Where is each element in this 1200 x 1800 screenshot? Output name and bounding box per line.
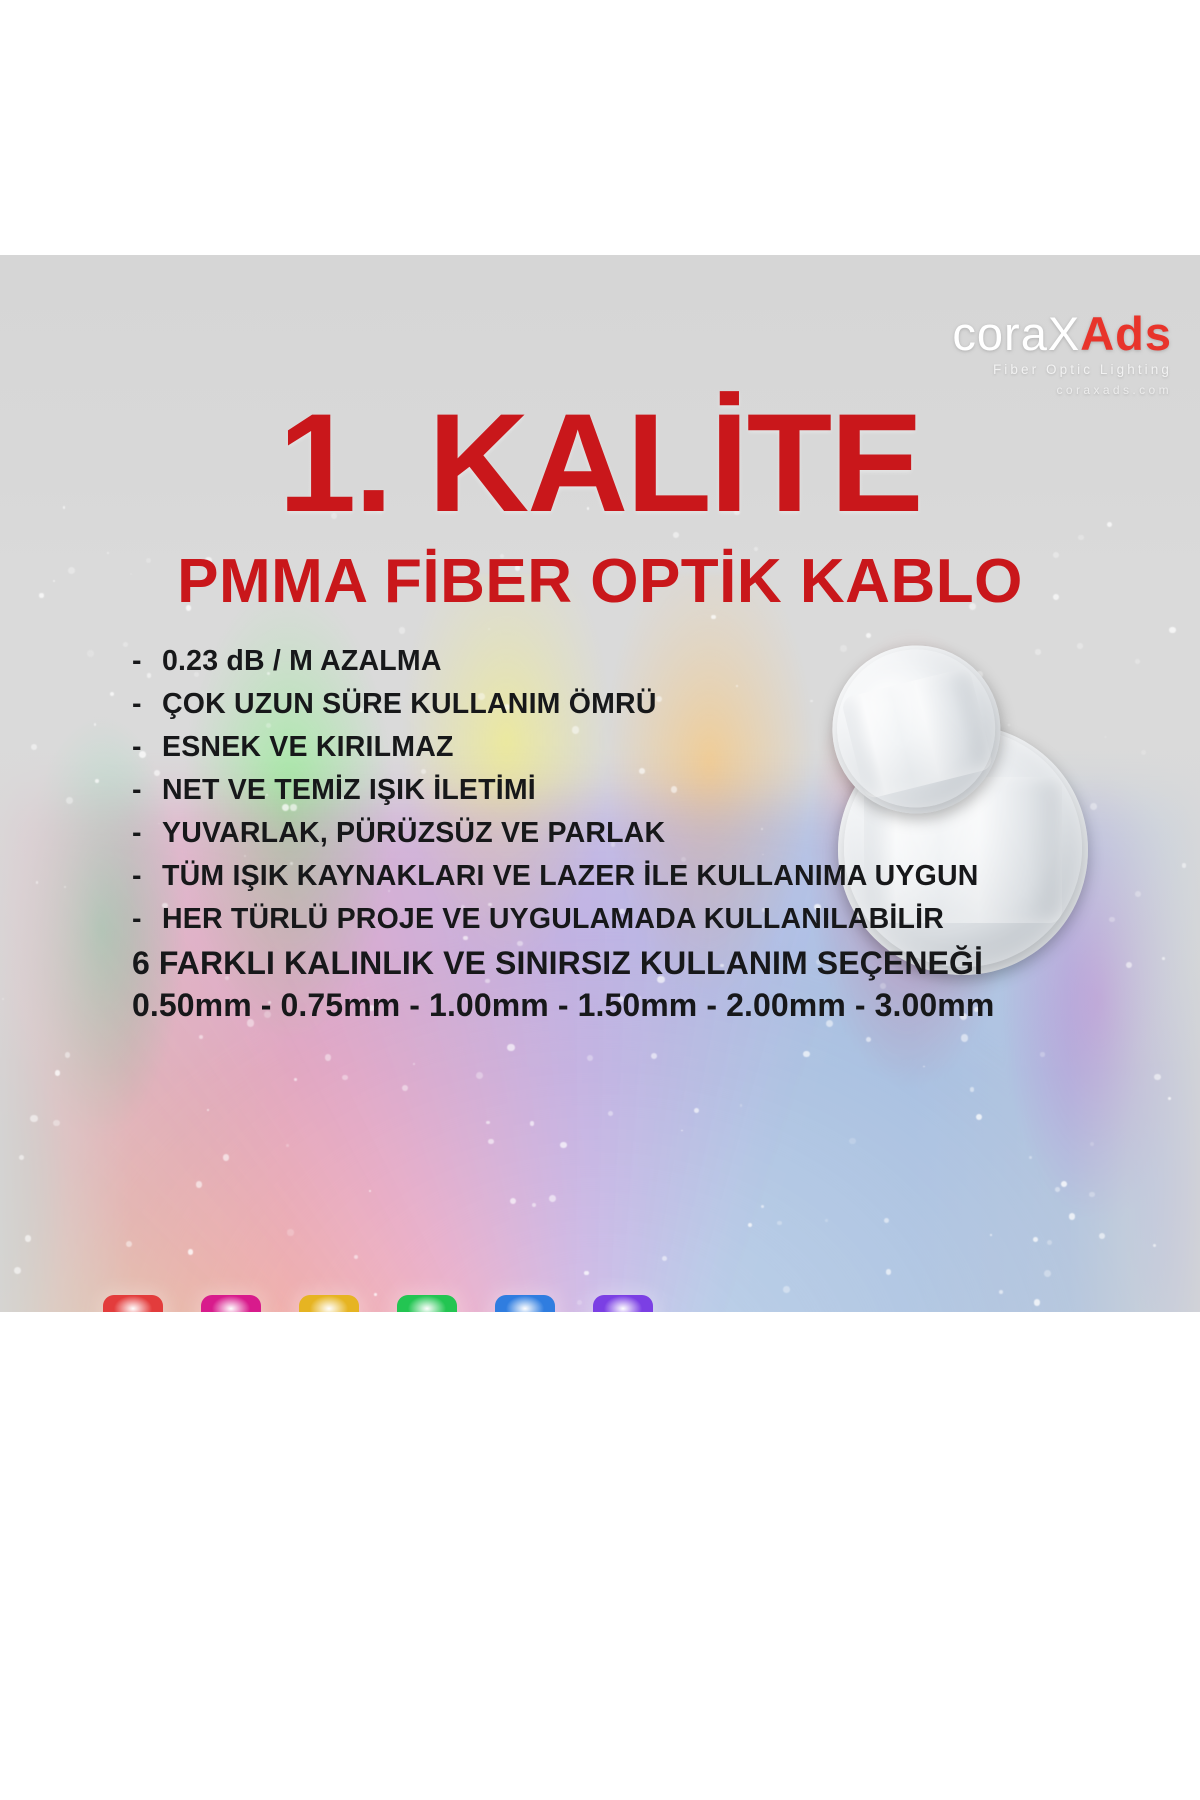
feature-item: -0.23 dB / M AZALMA	[132, 647, 979, 677]
feature-item: -YUVARLAK, PÜRÜZSÜZ VE PARLAK	[132, 819, 979, 849]
logo-ads-text: Ads	[1080, 307, 1172, 360]
page-subtitle: PMMA FİBER OPTİK KABLO	[0, 551, 1200, 613]
size-options-title: 6 FARKLI KALINLIK VE SINIRSIZ KULLANIM S…	[132, 945, 994, 982]
brand-logo: coraXAds Fiber Optic Lighting coraxads.c…	[952, 310, 1172, 396]
feature-item: -ESNEK VE KIRILMAZ	[132, 733, 979, 763]
feature-item: -ÇOK UZUN SÜRE KULLANIM ÖMRÜ	[132, 690, 979, 720]
feature-bullet-dash: -	[132, 819, 162, 849]
ad-panel: coraXAds Fiber Optic Lighting coraxads.c…	[0, 255, 1200, 1312]
controller-knob[interactable]	[585, 1295, 661, 1312]
feature-item-label: TÜM IŞIK KAYNAKLARI VE LAZER İLE KULLANI…	[162, 862, 979, 892]
logo-tagline: Fiber Optic Lighting	[952, 363, 1172, 377]
knob-light-cap	[299, 1295, 359, 1312]
feature-item: -NET VE TEMİZ IŞIK İLETİMİ	[132, 776, 979, 806]
feature-item-label: YUVARLAK, PÜRÜZSÜZ VE PARLAK	[162, 819, 665, 849]
logo-cora-text: cora	[952, 307, 1047, 360]
knob-light-cap	[397, 1295, 457, 1312]
feature-bullet-dash: -	[132, 690, 162, 720]
feature-list: -0.23 dB / M AZALMA-ÇOK UZUN SÜRE KULLAN…	[132, 647, 979, 947]
knob-light-cap	[103, 1295, 163, 1312]
controller-knob[interactable]	[95, 1295, 171, 1312]
knob-light-cap	[593, 1295, 653, 1312]
logo-wordmark: coraXAds	[952, 310, 1172, 357]
advertisement-page: coraXAds Fiber Optic Lighting coraxads.c…	[0, 0, 1200, 1800]
controller-knob[interactable]	[389, 1295, 465, 1312]
feature-item: -HER TÜRLÜ PROJE VE UYGULAMADA KULLANILA…	[132, 905, 979, 935]
feature-bullet-dash: -	[132, 733, 162, 763]
feature-item-label: NET VE TEMİZ IŞIK İLETİMİ	[162, 776, 536, 806]
feature-item: -TÜM IŞIK KAYNAKLARI VE LAZER İLE KULLAN…	[132, 862, 979, 892]
feature-bullet-dash: -	[132, 905, 162, 935]
knob-light-cap	[201, 1295, 261, 1312]
knob-light-cap	[495, 1295, 555, 1312]
feature-bullet-dash: -	[132, 862, 162, 892]
size-options-list: 0.50mm - 0.75mm - 1.00mm - 1.50mm - 2.00…	[132, 987, 994, 1024]
feature-item-label: ESNEK VE KIRILMAZ	[162, 733, 454, 763]
feature-bullet-dash: -	[132, 776, 162, 806]
page-title: 1. KALİTE	[0, 393, 1200, 533]
feature-item-label: ÇOK UZUN SÜRE KULLANIM ÖMRÜ	[162, 690, 657, 720]
controller-knob[interactable]	[291, 1295, 367, 1312]
feature-bullet-dash: -	[132, 647, 162, 677]
logo-x-text: X	[1048, 307, 1080, 360]
feature-item-label: HER TÜRLÜ PROJE VE UYGULAMADA KULLANILAB…	[162, 905, 944, 935]
controller-knob[interactable]	[193, 1295, 269, 1312]
feature-item-label: 0.23 dB / M AZALMA	[162, 647, 442, 677]
controller-knob[interactable]	[487, 1295, 563, 1312]
size-options-block: 6 FARKLI KALINLIK VE SINIRSIZ KULLANIM S…	[132, 945, 994, 1024]
